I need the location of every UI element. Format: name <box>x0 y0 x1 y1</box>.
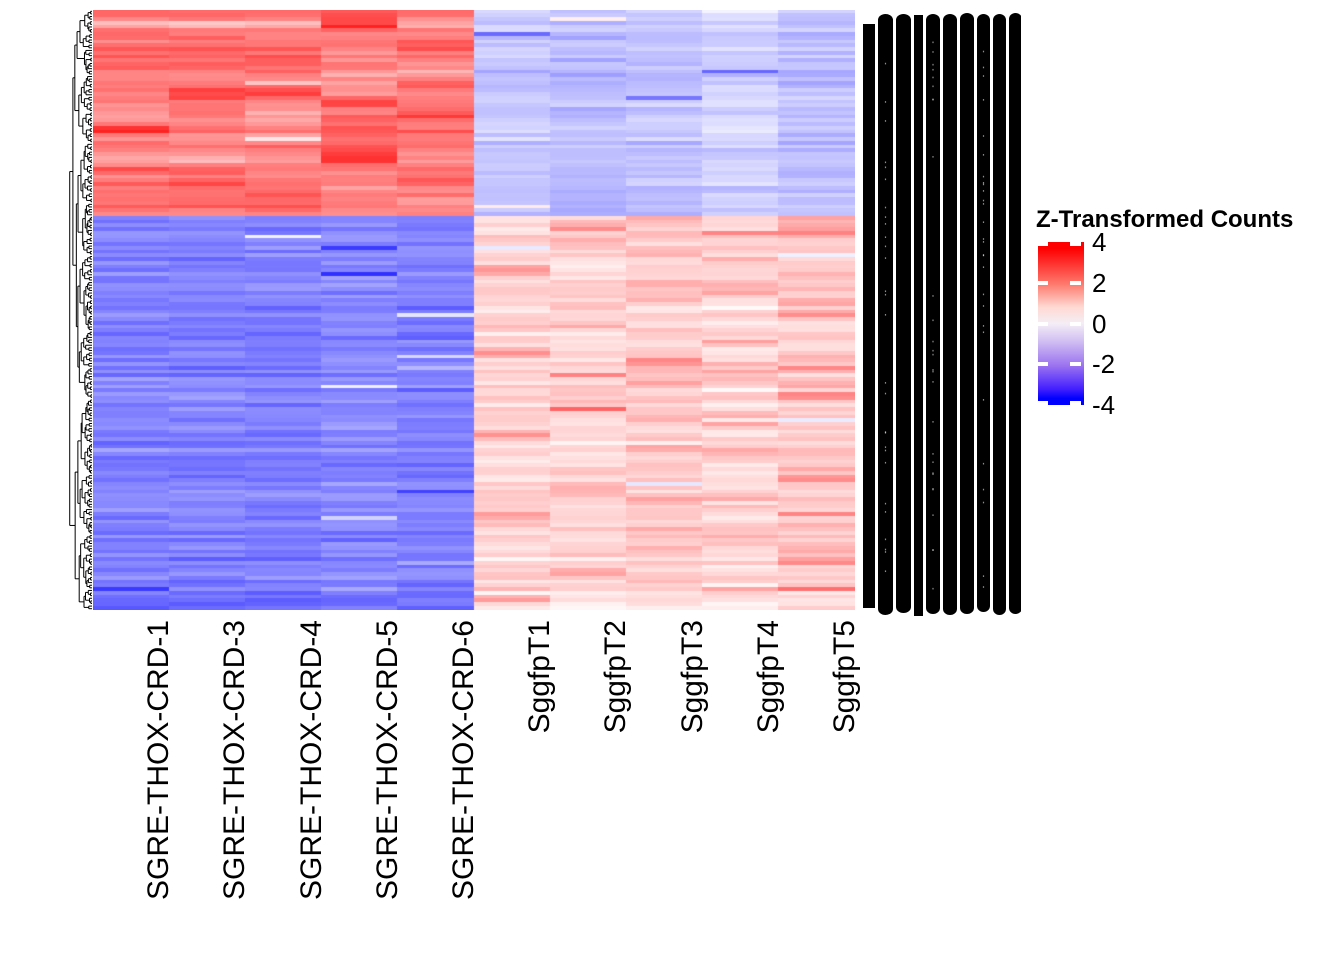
row-dendrogram <box>8 10 92 610</box>
legend-label-2: 2 <box>1092 270 1106 296</box>
column-label-2: SGRE-THOX-CRD-3 <box>218 620 252 920</box>
column-label-9: SggfpT4 <box>752 620 786 920</box>
column-label-3: SGRE-THOX-CRD-4 <box>295 620 329 920</box>
legend-tick-right-0 <box>1070 322 1081 326</box>
column-label-4: SGRE-THOX-CRD-5 <box>371 620 405 920</box>
legend-label-0: 0 <box>1092 311 1106 337</box>
column-label-7: SggfpT2 <box>599 620 633 920</box>
legend-tick-left-0 <box>1037 322 1048 326</box>
legend-tick-right-2 <box>1070 281 1081 285</box>
column-label-1: SGRE-THOX-CRD-1 <box>142 620 176 920</box>
row-dendrogram-svg <box>8 10 92 610</box>
legend: Z-Transformed Counts 420-2-4 <box>1036 208 1336 422</box>
legend-label-4: 4 <box>1092 229 1106 255</box>
row-labels-block <box>861 8 1021 622</box>
figure-root: SGRE-THOX-CRD-1SGRE-THOX-CRD-3SGRE-THOX-… <box>0 0 1344 960</box>
legend-tick-right--2 <box>1070 362 1081 366</box>
heatmap-body <box>93 10 855 610</box>
legend-tick-right--4 <box>1070 401 1081 405</box>
column-labels: SGRE-THOX-CRD-1SGRE-THOX-CRD-3SGRE-THOX-… <box>93 612 855 942</box>
heatmap-canvas <box>93 10 855 610</box>
row-labels-svg <box>861 8 1021 622</box>
legend-tick-right-4 <box>1070 242 1081 246</box>
column-label-10: SggfpT5 <box>828 620 862 920</box>
legend-body: 420-2-4 <box>1036 242 1336 422</box>
legend-tick-left-2 <box>1037 281 1048 285</box>
legend-label--2: -2 <box>1092 351 1115 377</box>
column-label-6: SggfpT1 <box>523 620 557 920</box>
column-label-8: SggfpT3 <box>676 620 710 920</box>
column-label-5: SGRE-THOX-CRD-6 <box>447 620 481 920</box>
legend-tick-left--4 <box>1037 401 1048 405</box>
legend-tick-left-4 <box>1037 242 1048 246</box>
legend-tick-left--2 <box>1037 362 1048 366</box>
legend-title: Z-Transformed Counts <box>1036 208 1336 232</box>
legend-label--4: -4 <box>1092 392 1115 418</box>
